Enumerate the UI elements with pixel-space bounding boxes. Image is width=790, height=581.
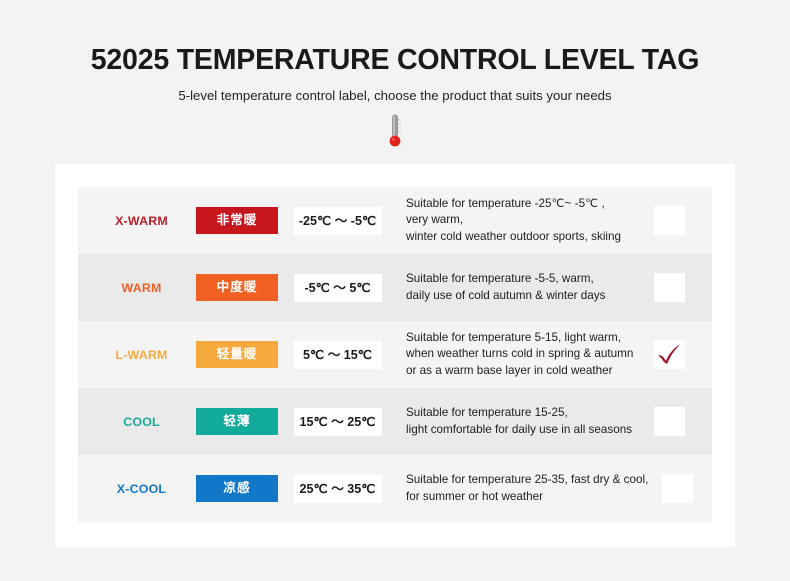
selection-cell[interactable] — [640, 340, 698, 369]
badge-cell: 凉感 — [188, 475, 286, 502]
level-name: L-WARM — [95, 348, 188, 362]
page-header: 52025 TEMPERATURE CONTROL LEVEL TAG 5-le… — [0, 0, 790, 151]
level-badge: 轻薄 — [196, 408, 278, 435]
level-name: X-COOL — [95, 482, 188, 496]
levels-card: X-WARM 非常暖 -25℃ ～ -5℃ Suitable for tempe… — [55, 164, 735, 547]
level-badge: 中度暖 — [196, 274, 278, 301]
table-row[interactable]: L-WARM 轻量暖 5℃ ～ 15℃ Suitable for tempera… — [78, 321, 712, 388]
thermometer-icon — [386, 113, 404, 151]
description-cell: Suitable for temperature 25-35, fast dry… — [389, 472, 648, 504]
selection-checkbox[interactable] — [654, 206, 685, 235]
description-line: when weather turns cold in spring & autu… — [406, 346, 640, 362]
description-line: Suitable for temperature 15-25, — [406, 405, 640, 421]
description-cell: Suitable for temperature 5-15, light war… — [389, 330, 640, 378]
description-line: Suitable for temperature 5-15, light war… — [406, 330, 640, 346]
range-cell: 5℃ ～ 15℃ — [286, 341, 389, 369]
range-cell: 25℃ ～ 35℃ — [286, 475, 389, 503]
description-cell: Suitable for temperature 15-25, light co… — [389, 405, 640, 437]
table-row[interactable]: WARM 中度暖 -5℃ ～ 5℃ Suitable for temperatu… — [78, 254, 712, 321]
selection-checkbox[interactable] — [654, 407, 685, 436]
description-line: Suitable for temperature -25℃~ -5℃ , — [406, 196, 640, 212]
temperature-level-tag-page: 52025 TEMPERATURE CONTROL LEVEL TAG 5-le… — [0, 0, 790, 581]
thermometer-icon-wrap — [0, 113, 790, 151]
description-line: Suitable for temperature -5-5, warm, — [406, 271, 640, 287]
table-row[interactable]: X-WARM 非常暖 -25℃ ～ -5℃ Suitable for tempe… — [78, 187, 712, 254]
level-badge: 轻量暖 — [196, 341, 278, 368]
page-subtitle: 5-level temperature control label, choos… — [0, 88, 790, 104]
page-title: 52025 TEMPERATURE CONTROL LEVEL TAG — [0, 44, 790, 77]
description-line: winter cold weather outdoor sports, skii… — [406, 229, 640, 245]
level-name: COOL — [95, 415, 188, 429]
description-line: very warm, — [406, 212, 640, 228]
selection-cell[interactable] — [648, 474, 706, 503]
description-line: or as a warm base layer in cold weather — [406, 363, 640, 379]
temperature-range: 15℃ ～ 25℃ — [294, 408, 382, 436]
range-cell: -5℃ ～ 5℃ — [286, 274, 389, 302]
selection-checkbox[interactable] — [662, 474, 693, 503]
temperature-range: -5℃ ～ 5℃ — [294, 274, 382, 302]
range-cell: 15℃ ～ 25℃ — [286, 408, 389, 436]
description-line: light comfortable for daily use in all s… — [406, 422, 640, 438]
levels-table: X-WARM 非常暖 -25℃ ～ -5℃ Suitable for tempe… — [78, 187, 712, 522]
check-icon — [654, 341, 684, 369]
badge-cell: 非常暖 — [188, 207, 286, 234]
badge-cell: 轻薄 — [188, 408, 286, 435]
temperature-range: -25℃ ～ -5℃ — [294, 207, 382, 235]
table-row[interactable]: COOL 轻薄 15℃ ～ 25℃ Suitable for temperatu… — [78, 388, 712, 455]
description-line: for summer or hot weather — [406, 489, 648, 505]
level-name: X-WARM — [95, 214, 188, 228]
badge-cell: 轻量暖 — [188, 341, 286, 368]
selection-cell[interactable] — [640, 407, 698, 436]
badge-cell: 中度暖 — [188, 274, 286, 301]
description-cell: Suitable for temperature -25℃~ -5℃ , ver… — [389, 196, 640, 244]
description-cell: Suitable for temperature -5-5, warm, dai… — [389, 271, 640, 303]
level-badge: 非常暖 — [196, 207, 278, 234]
selection-checkbox-checked[interactable] — [654, 340, 685, 369]
level-badge: 凉感 — [196, 475, 278, 502]
description-line: daily use of cold autumn & winter days — [406, 288, 640, 304]
table-row[interactable]: X-COOL 凉感 25℃ ～ 35℃ Suitable for tempera… — [78, 455, 712, 522]
temperature-range: 5℃ ～ 15℃ — [294, 341, 382, 369]
description-line: Suitable for temperature 25-35, fast dry… — [406, 472, 648, 488]
temperature-range: 25℃ ～ 35℃ — [294, 475, 382, 503]
range-cell: -25℃ ～ -5℃ — [286, 207, 389, 235]
selection-cell[interactable] — [640, 206, 698, 235]
level-name: WARM — [95, 281, 188, 295]
selection-cell[interactable] — [640, 273, 698, 302]
selection-checkbox[interactable] — [654, 273, 685, 302]
